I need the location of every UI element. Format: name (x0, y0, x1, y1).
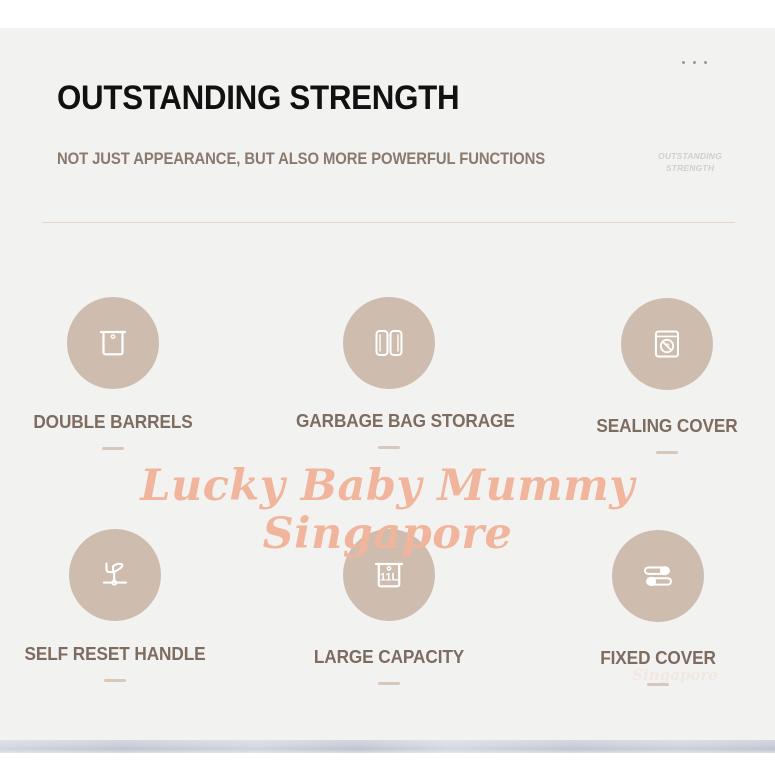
sealing-cover-no-odor-icon (645, 322, 689, 366)
product-feature-banner: OUTSTANDING STRENGTH NOT JUST APPEARANCE… (0, 0, 775, 775)
icon-circle (612, 530, 704, 622)
garbage-bag-storage-icon (367, 321, 411, 365)
dot-icon (704, 61, 707, 64)
icon-circle: 11L (343, 529, 435, 621)
feature-large-capacity: 11L LARGE CAPACITY (289, 529, 489, 685)
bottom-photo-strip (0, 740, 775, 753)
feature-sealing-cover: SEALING COVER (567, 298, 767, 454)
feature-self-reset-handle: SELF RESET HANDLE (15, 529, 215, 682)
decorative-dots (682, 61, 707, 64)
corner-watermark-line-2: STRENGTH (640, 162, 740, 174)
feature-label: SEALING COVER (574, 415, 760, 437)
double-barrel-bin-icon (91, 321, 135, 365)
dot-icon (682, 61, 685, 64)
feature-double-barrels: DOUBLE BARRELS (13, 297, 213, 450)
feature-fixed-cover: FIXED COVER (558, 530, 758, 686)
feature-dash (378, 446, 400, 449)
feature-label: LARGE CAPACITY (296, 646, 482, 668)
self-reset-handle-icon (93, 553, 137, 597)
feature-dash (102, 447, 124, 450)
large-capacity-11l-icon: 11L (366, 552, 412, 598)
fixed-cover-sliders-icon (635, 553, 681, 599)
dot-icon (693, 61, 696, 64)
feature-dash (378, 682, 400, 685)
capacity-value: 11L (380, 572, 399, 584)
feature-label: SELF RESET HANDLE (22, 643, 208, 665)
feature-dash (656, 451, 678, 454)
icon-circle (621, 298, 713, 390)
header-divider (42, 222, 735, 223)
feature-label: DOUBLE BARRELS (20, 411, 206, 433)
icon-circle (343, 297, 435, 389)
corner-watermark: OUTSTANDING STRENGTH (640, 150, 740, 174)
feature-label: FIXED COVER (565, 647, 751, 669)
feature-garbage-bag-storage: GARBAGE BAG STORAGE (289, 297, 489, 449)
feature-label: GARBAGE BAG STORAGE (296, 410, 482, 432)
page-subtitle: NOT JUST APPEARANCE, BUT ALSO MORE POWER… (57, 148, 545, 170)
page-title: OUTSTANDING STRENGTH (57, 78, 459, 118)
icon-circle (67, 297, 159, 389)
feature-dash (647, 683, 669, 686)
feature-dash (104, 679, 126, 682)
corner-watermark-line-1: OUTSTANDING (640, 150, 740, 162)
icon-circle (69, 529, 161, 621)
